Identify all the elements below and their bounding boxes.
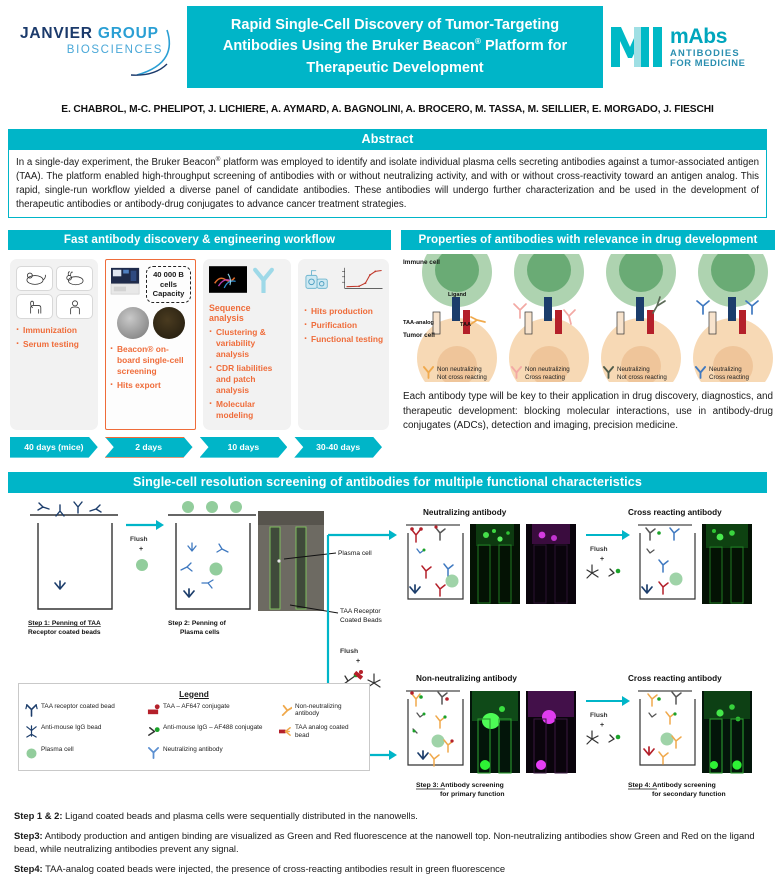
workflow-bullet: Serum testing — [16, 339, 93, 350]
svg-text:Flush: Flush — [590, 712, 608, 719]
step1-caption-line2: Receptor coated beads — [28, 629, 101, 636]
workflow-card-immunization: Immunization Serum testing — [10, 259, 98, 429]
legend-label: Anti-mouse IgG bead — [41, 724, 101, 732]
flush-arrow-bottom: Flush + — [586, 696, 630, 744]
workflow-bullet: CDR liabilities and patch analysis — [209, 363, 286, 396]
antibody-type-label: Non neutralizing — [437, 366, 487, 374]
poster-title-line-1: Rapid Single-Cell Discovery of Tumor-Tar… — [197, 15, 593, 36]
poster-title-line-3: Therapeutic Development — [197, 58, 593, 79]
legend-label: TAA analog coated bead — [295, 724, 363, 739]
poster-header: JANVIER GROUP BIOSCIENCES Rapid Single-C… — [0, 0, 775, 88]
antibody-type-label: Neutralizing — [617, 366, 667, 374]
workflow-cards: Immunization Serum testing — [8, 259, 391, 429]
footer-step-4-text: TAA-analog coated beads were injected, t… — [43, 863, 505, 874]
step3-caption-line2: for primary function — [440, 791, 505, 798]
legend-grid: TAA receptor coated bead TAA – AF647 con… — [25, 703, 363, 763]
legend-label: Neutralizing antibody — [163, 746, 223, 754]
workflow-bullets-beacon: Beacon® on-board single-cell screening H… — [110, 344, 191, 391]
panel-title-neutralizing: Neutralizing antibody — [423, 508, 507, 517]
antibody-type-4: NeutralizingCross reacting — [677, 366, 769, 382]
step4-caption-line2: for secondary function — [652, 791, 726, 798]
workflow-card-sequence-analysis: Sequence analysis Clustering & variabili… — [203, 259, 291, 429]
legend-item-taa-receptor-coated-bead: TAA receptor coated bead — [25, 703, 143, 720]
svg-text:Flush: Flush — [130, 536, 148, 543]
timeline-step-4: 30-40 days — [294, 437, 382, 458]
mouse-icon — [16, 266, 53, 291]
neutralizing-nanowell — [406, 525, 463, 599]
footer-step-3-text: Antibody production and antigen binding … — [14, 830, 755, 854]
non-neutralizing-antibody-icon — [279, 703, 292, 720]
step2-caption-line2: Plasma cells — [180, 629, 220, 636]
cross-reacting-bottom-fluorescence — [702, 691, 752, 773]
legend-item-empty — [279, 746, 363, 763]
svg-text:Ligand: Ligand — [448, 292, 467, 298]
flush-arrow-1: Flush + — [126, 520, 164, 571]
non-neutralizing-green-fluorescence — [470, 691, 520, 773]
beacon-micrographs — [110, 307, 191, 339]
beacon-top-row: 40 000 B cells Capacity — [110, 266, 191, 302]
step2-nanowell — [168, 501, 256, 609]
step1-caption-line1: Step 1: Penning of TAA — [28, 620, 101, 627]
workflow-bullet: Immunization — [16, 325, 93, 336]
workflow-bullet: Functional testing — [304, 334, 384, 345]
legend-item-taa-analog-coated-bead: TAA analog coated bead — [279, 724, 363, 741]
legend-item-non-neutralizing-antibody: Non-neutralizing antibody — [279, 703, 363, 720]
capacity-line-1: 40 000 B — [149, 270, 188, 279]
brightfield-micrograph — [117, 307, 149, 339]
workflow-bullet: Clustering & variability analysis — [209, 327, 286, 360]
mabs-logo: mAbs ANTIBODIES FOR MEDICINE — [609, 25, 769, 69]
antibody-properties-diagram: Immune cell Ligand TAA-analog TAA Tumor … — [401, 254, 775, 382]
svg-text:Flush: Flush — [590, 546, 608, 553]
mi-mark-icon — [609, 25, 665, 69]
workflow-bullet: Hits export — [110, 380, 191, 391]
legend-box: Legend TAA receptor coated bead TAA – AF… — [18, 683, 370, 771]
molecular-model-image — [209, 266, 247, 298]
anti-mouse-igg-bead-icon — [25, 724, 38, 741]
properties-banner: Properties of antibodies with relevance … — [401, 230, 775, 250]
svg-text:+: + — [600, 722, 604, 729]
taa-receptor-callout-l1: TAA Receptor — [340, 608, 381, 615]
footer-step-1-2-text: Ligand coated beads and plasma cells wer… — [62, 810, 417, 821]
antibody-type-label: Neutralizing — [709, 366, 749, 374]
footer-step-4-label: Step4: — [14, 863, 43, 874]
author-list: E. CHABROL, M-C. PHELIPOT, J. LICHIERE, … — [8, 104, 767, 115]
antibody-type-label: Non neutralizing — [525, 366, 570, 374]
step1-nanowell — [30, 502, 118, 609]
footer-step-3: Step3: Antibody production and antigen b… — [14, 829, 761, 855]
workflow-panel: Fast antibody discovery & engineering wo… — [8, 230, 391, 457]
mabs-logo-main: mAbs — [670, 26, 745, 48]
properties-description: Each antibody type will be key to their … — [401, 390, 775, 433]
properties-figure: Immune cell Ligand TAA-analog TAA Tumor … — [401, 254, 775, 384]
workflow-bullet: Beacon® on-board single-cell screening — [110, 344, 191, 377]
neutralizing-magenta-fluorescence — [526, 524, 576, 604]
rabbit-icon — [56, 266, 93, 291]
legend-label: TAA – AF647 conjugate — [163, 703, 230, 711]
taa-receptor-callout-l2: Coated Beads — [340, 617, 382, 624]
step3-caption-line1: Step 3: Antibody screening — [416, 782, 504, 789]
legend-label: TAA receptor coated bead — [41, 703, 115, 711]
panel-title-non-neutralizing: Non-neutralizing antibody — [416, 674, 517, 683]
cross-reacting-top-fluorescence — [702, 524, 752, 604]
legend-title: Legend — [25, 689, 363, 699]
legend-label: Plasma cell — [41, 746, 74, 754]
antibody-type-2: Non neutralizingCross reacting — [493, 366, 585, 382]
workflow-bullets-sequence: Clustering & variability analysis CDR li… — [209, 327, 286, 420]
antibody-icon — [251, 267, 276, 298]
taa-analog-coated-bead-icon — [279, 724, 292, 741]
neutralizing-antibody-icon — [147, 746, 160, 763]
workflow-card-beacon: 40 000 B cells Capacity Beacon® on-board… — [105, 259, 196, 429]
mid-section: Fast antibody discovery & engineering wo… — [8, 230, 767, 457]
poster-title: Rapid Single-Cell Discovery of Tumor-Tar… — [187, 6, 603, 88]
plasma-cell-callout: Plasma cell — [338, 550, 372, 557]
capacity-line-3: Capacity — [149, 289, 188, 298]
llama-icon — [16, 294, 53, 319]
antibody-type-sublabel: Not cross reacting — [437, 374, 487, 382]
janvier-group-logo: JANVIER GROUP BIOSCIENCES — [6, 25, 181, 70]
non-neutralizing-nanowell — [406, 691, 463, 766]
legend-label: Non-neutralizing antibody — [295, 703, 363, 718]
legend-item-anti-mouse-igg-bead: Anti-mouse IgG bead — [25, 724, 143, 741]
workflow-bullets-hits: Hits production Purification Functional … — [304, 306, 384, 345]
svg-text:Tumor cell: Tumor cell — [403, 332, 435, 339]
anti-mouse-igg-af488-conjugate-icon — [147, 724, 160, 741]
capacity-line-2: cells — [149, 280, 188, 289]
antibody-type-legend-row: Non neutralizingNot cross reacting Non n… — [401, 366, 775, 382]
workflow-card-hits-production: Hits production Purification Functional … — [298, 259, 389, 429]
neutralizing-green-fluorescence — [470, 524, 520, 604]
svg-text:Immune cell: Immune cell — [403, 259, 440, 266]
workflow-bullets-immunization: Immunization Serum testing — [16, 325, 93, 350]
janvier-word: JANVIER — [20, 25, 98, 42]
footer-step-1-2: Step 1 & 2: Ligand coated beads and plas… — [14, 809, 761, 822]
panel-title-cross-reacting-bottom: Cross reacting antibody — [628, 674, 722, 683]
antibody-type-sublabel: Cross reacting — [525, 374, 570, 382]
svg-text:+: + — [600, 556, 604, 563]
timeline-step-2: 2 days — [105, 437, 193, 458]
chip-micrograph — [258, 511, 324, 611]
svg-text:+: + — [356, 658, 360, 665]
capacity-bubble: 40 000 B cells Capacity — [146, 266, 191, 302]
screening-banner: Single-cell resolution screening of anti… — [8, 472, 767, 493]
legend-item-neutralizing-antibody: Neutralizing antibody — [147, 746, 275, 763]
step4-caption-line1: Step 4: Antibody screening — [628, 782, 716, 789]
screening-figure: Step 1: Penning of TAA Receptor coated b… — [8, 493, 767, 803]
fluorescence-micrograph — [153, 307, 185, 339]
plasma-cell-icon — [25, 746, 38, 763]
workflow-bullet: Molecular modeling — [209, 399, 286, 421]
panel-title-cross-reacting-top: Cross reacting antibody — [628, 508, 722, 517]
timeline-step-3: 10 days — [200, 437, 288, 458]
workflow-bullet: Hits production — [304, 306, 384, 317]
workflow-bullet: Purification — [304, 320, 384, 331]
svg-text:Flush: Flush — [340, 648, 358, 655]
janvier-swoosh-icon — [20, 56, 181, 70]
step2-caption-line1: Step 2: Penning of — [168, 620, 227, 627]
poster-title-line-2: Antibodies Using the Bruker Beacon® Plat… — [197, 36, 593, 57]
footer-step-4: Step4: TAA-analog coated beads were inje… — [14, 862, 761, 875]
svg-text:+: + — [139, 546, 143, 553]
human-icon — [56, 294, 93, 319]
abstract-section: Abstract In a single-day experiment, the… — [8, 129, 767, 218]
footer-step-3-label: Step3: — [14, 830, 43, 841]
footer-step-1-2-label: Step 1 & 2: — [14, 810, 62, 821]
dose-response-curve-chart — [335, 266, 385, 298]
taa-af647-conjugate-icon — [147, 703, 160, 720]
beacon-instrument-icon — [110, 266, 142, 301]
antibody-type-sublabel: Cross reacting — [709, 374, 749, 382]
legend-item-anti-mouse-igg-af488-conjugate: Anti-mouse IgG – AF488 conjugate — [147, 724, 275, 741]
sequence-analysis-heading: Sequence analysis — [209, 303, 286, 323]
non-neutralizing-magenta-fluorescence — [526, 691, 576, 773]
animal-icon-grid — [16, 266, 93, 319]
cross-reacting-top-nanowell — [638, 525, 695, 599]
svg-text:TAA: TAA — [460, 322, 471, 328]
timeline-step-1: 40 days (mice) — [10, 437, 98, 458]
flush-arrow-top: Flush + — [586, 530, 630, 578]
mabs-logo-sub2: FOR MEDICINE — [670, 58, 745, 68]
legend-item-plasma-cell: Plasma cell — [25, 746, 143, 763]
properties-panel: Properties of antibodies with relevance … — [401, 230, 775, 457]
abstract-banner: Abstract — [8, 129, 767, 150]
antibody-type-3: NeutralizingNot cross reacting — [585, 366, 677, 382]
legend-item-taa-af647-conjugate: TAA – AF647 conjugate — [147, 703, 275, 720]
workflow-timeline: 40 days (mice) 2 days 10 days 30-40 days — [8, 437, 391, 458]
svg-text:TAA-analog: TAA-analog — [403, 320, 435, 326]
mabs-logo-text: mAbs ANTIBODIES FOR MEDICINE — [670, 26, 745, 68]
workflow-banner: Fast antibody discovery & engineering wo… — [8, 230, 391, 250]
bioreactor-icon — [304, 267, 332, 298]
legend-label: Anti-mouse IgG – AF488 conjugate — [163, 724, 262, 732]
footer-steps: Step 1 & 2: Ligand coated beads and plas… — [14, 809, 761, 876]
cross-reacting-bottom-nanowell — [638, 691, 695, 765]
taa-receptor-coated-bead-icon — [25, 703, 38, 720]
abstract-text: In a single-day experiment, the Bruker B… — [8, 150, 767, 218]
antibody-type-sublabel: Not cross reacting — [617, 374, 667, 382]
antibody-type-1: Non neutralizingNot cross reacting — [401, 366, 493, 382]
